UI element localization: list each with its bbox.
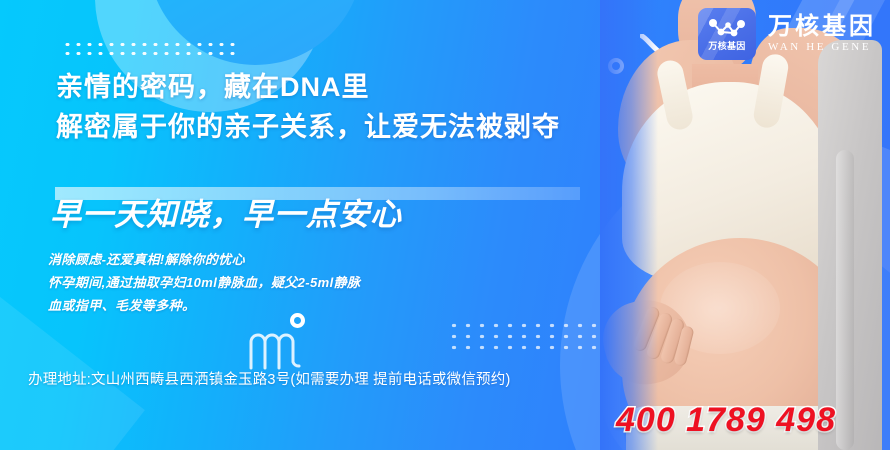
address-text: 办理地址:文山州西畴县西洒镇金玉路3号(如需要办理 提前电话或微信预约)	[28, 368, 510, 389]
body-copy: 消除顾虑-还爱真相!解除你的忧心 怀孕期间,通过抽取孕妇10ml静脉血，疑父2-…	[48, 248, 360, 317]
pregnant-woman-photo	[600, 0, 890, 450]
wave-line-icon	[248, 330, 302, 370]
promo-banner: 万核基因 万核基因 WAN HE GENE 亲情的密码，藏在DNA里 解密属于你…	[0, 0, 890, 450]
logo-name-en: WAN HE GENE	[768, 42, 876, 53]
headline-line-2: 解密属于你的亲子关系，让爱无法被剥夺	[56, 108, 560, 148]
phone-number[interactable]: 400 1789 498	[616, 401, 836, 440]
dot-grid-icon	[62, 40, 238, 58]
brand-logo[interactable]: 万核基因 万核基因 WAN HE GENE	[698, 8, 876, 60]
body-line-3: 血或指甲、毛发等多种。	[48, 294, 360, 317]
logo-wordmark: 万核基因 WAN HE GENE	[768, 15, 876, 53]
headline: 亲情的密码，藏在DNA里 解密属于你的亲子关系，让爱无法被剥夺	[56, 68, 560, 148]
logo-mark: 万核基因	[698, 8, 756, 60]
logo-name-cn: 万核基因	[768, 15, 876, 39]
dna-molecule-icon	[707, 17, 747, 41]
body-line-2: 怀孕期间,通过抽取孕妇10ml静脉血，疑父2-5ml静脉	[48, 271, 360, 294]
decor-arc-top-left-inner	[148, 0, 363, 65]
headline-line-1: 亲情的密码，藏在DNA里	[56, 68, 560, 108]
photo-left-fade	[600, 0, 658, 450]
subheadline-text: 早一天知晓，早一点安心	[50, 189, 402, 234]
photo-cardigan-fold	[836, 150, 854, 450]
body-line-1: 消除顾虑-还爱真相!解除你的忧心	[48, 248, 360, 271]
logo-mark-label: 万核基因	[708, 42, 745, 51]
subheadline: 早一天知晓，早一点安心	[50, 186, 580, 230]
